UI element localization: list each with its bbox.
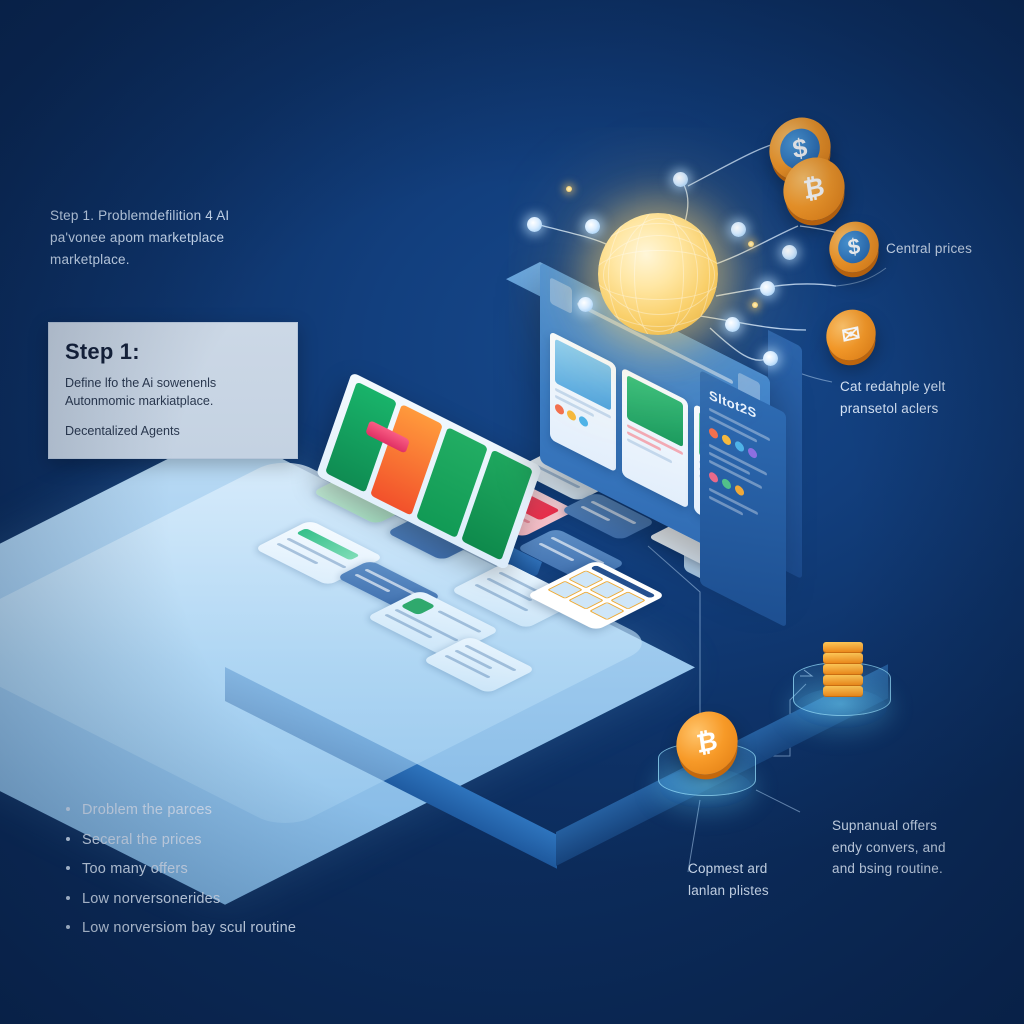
mail-coin-glyph: ✉: [833, 316, 869, 354]
label-supra-line: Supnanual offers: [832, 815, 1010, 837]
network-node: [725, 317, 740, 332]
bitcoin-coin-glyph: ₿: [792, 165, 836, 213]
headnote-line: marketplace.: [50, 249, 290, 271]
mail-coin: ✉: [826, 310, 876, 360]
step-card-title: Step 1:: [65, 339, 281, 365]
headnote: Step 1. Problemdefilition 4 AI pa'vonee …: [50, 205, 290, 271]
main-screen-side-column[interactable]: Sltot2S: [700, 370, 786, 627]
product-card[interactable]: [550, 331, 616, 472]
bitcoin-pedestal-coin: ₿: [676, 712, 738, 774]
list-item: Seceral the prices: [64, 830, 364, 851]
step-card: Step 1: Define lfo the Ai sowenenls Auto…: [48, 322, 298, 459]
label-compest-line: lanlan plistes: [688, 880, 828, 902]
bitcoin-coin: ₿: [783, 158, 845, 220]
grid-widget-cells: [547, 570, 646, 620]
label-compest: Copmest ard lanlan plistes: [688, 858, 828, 901]
spark-dot: [752, 302, 758, 308]
label-supra-line: and bsing routine.: [832, 858, 1010, 880]
sphere-wireframe: [598, 213, 718, 335]
network-node: [527, 217, 542, 232]
label-reach-line: pransetol aclers: [840, 398, 1010, 420]
step-card-line: Autonmomic markiatplace.: [65, 392, 281, 410]
label-central-prices: Central prices: [886, 238, 972, 260]
dollar-badge-coin: $: [829, 222, 879, 272]
list-item: Low norversonerides: [64, 889, 364, 910]
headnote-line: pa'vonee apom marketplace: [50, 227, 290, 249]
label-supra-line: endy convers, and: [832, 837, 1010, 859]
label-reach-line: Cat redahple yelt: [840, 376, 1010, 398]
network-node: [578, 297, 593, 312]
list-item: Low norversiom bay scul routine: [64, 918, 364, 939]
problem-bullet-list: Droblem the parces Seceral the prices To…: [64, 800, 364, 948]
spark-dot: [748, 241, 754, 247]
step-card-line: Decentalized Agents: [65, 422, 281, 440]
spark-dot: [566, 186, 572, 192]
dollar-badge-glyph: $: [836, 228, 872, 266]
headnote-line: Step 1. Problemdefilition 4 AI: [50, 205, 290, 227]
network-node: [763, 351, 778, 366]
ai-neural-sphere: [598, 213, 718, 335]
gold-block-stack: [823, 642, 863, 702]
list-item: Droblem the parces: [64, 800, 364, 821]
list-item: Too many offers: [64, 859, 364, 880]
label-supra: Supnanual offers endy convers, and and b…: [832, 815, 1010, 880]
bitcoin-pedestal-glyph: ₿: [685, 719, 729, 767]
network-node: [673, 172, 688, 187]
gold-stack-pedestal: [793, 648, 889, 732]
illustration-canvas: Sltot2S $: [0, 0, 1024, 1024]
label-compest-line: Copmest ard: [688, 858, 828, 880]
product-card[interactable]: [622, 367, 688, 508]
label-reach: Cat redahple yelt pransetol aclers: [840, 376, 1010, 419]
step-card-line: Define lfo the Ai sowenenls: [65, 374, 281, 392]
header-block-icon: [550, 277, 572, 314]
network-node: [585, 219, 600, 234]
bitcoin-pedestal: ₿: [658, 728, 754, 812]
network-node: [782, 245, 797, 260]
network-node: [760, 281, 775, 296]
network-node: [731, 222, 746, 237]
